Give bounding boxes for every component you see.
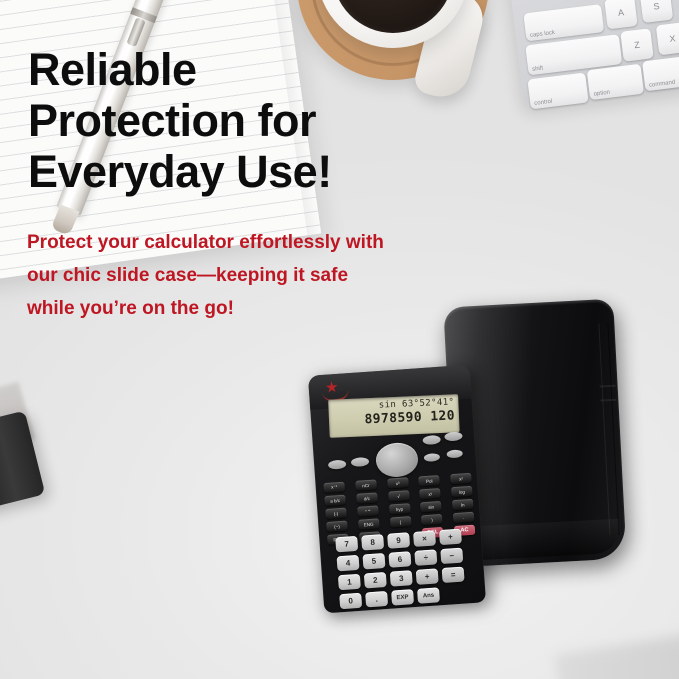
function-key[interactable]: ENG (358, 518, 380, 529)
equals-key[interactable]: = (442, 567, 465, 583)
product-lifestyle-scene: caps lock A S shift Z X control option c… (0, 0, 679, 679)
function-key[interactable]: x² (450, 473, 472, 484)
plus-key-top[interactable]: + (439, 529, 462, 545)
number-key-4[interactable]: 4 (337, 555, 360, 571)
key-a[interactable]: A (604, 0, 637, 29)
function-key[interactable]: Pol (418, 475, 440, 486)
function-key[interactable]: · (453, 512, 475, 523)
exp-key[interactable]: EXP (391, 589, 414, 605)
number-key-0[interactable]: 0 (339, 593, 362, 609)
key-control[interactable]: control (527, 73, 588, 110)
function-key[interactable]: nCr (355, 479, 377, 490)
directional-pad[interactable] (375, 442, 419, 479)
case-notch-mid (600, 399, 616, 402)
headline-line-2: Protection for (28, 95, 448, 146)
key-z[interactable]: Z (620, 28, 653, 61)
function-key[interactable]: ( (389, 516, 411, 527)
mac-keyboard: caps lock A S shift Z X control option c… (503, 0, 679, 108)
page-headline: Reliable Protection for Everyday Use! (28, 44, 448, 197)
alpha-key[interactable] (351, 457, 370, 467)
replay-left-key[interactable] (424, 453, 441, 462)
ans-key[interactable]: Ans (417, 587, 440, 603)
scientific-calculator: sin 63°52°41° 8978590 120 x⁻¹ nCr x³ Pol… (308, 365, 486, 614)
function-key[interactable]: (−) (326, 521, 348, 532)
key-option[interactable]: option (587, 64, 644, 100)
case-notch-top (600, 385, 616, 388)
key-x[interactable]: X (656, 22, 679, 55)
number-key-3[interactable]: 3 (390, 570, 413, 586)
left-edge-dark-object (0, 411, 45, 512)
mode-key[interactable] (422, 435, 441, 445)
number-key-9[interactable]: 9 (387, 532, 410, 548)
number-key-1[interactable]: 1 (338, 574, 361, 590)
plus-key[interactable]: + (416, 568, 439, 584)
key-command[interactable]: command (642, 53, 679, 91)
headline-line-1: Reliable (28, 44, 448, 95)
subcopy-line-2: our chic slide case—keeping it safe (27, 259, 497, 292)
function-key[interactable]: sin (420, 501, 442, 512)
function-key[interactable]: d/c (356, 492, 378, 503)
number-key-7[interactable]: 7 (335, 536, 358, 552)
function-key[interactable]: xʸ (419, 488, 441, 499)
function-key[interactable]: ) (421, 514, 443, 525)
divide-key[interactable]: ÷ (414, 549, 437, 565)
replay-right-key[interactable] (446, 449, 463, 458)
number-key-6[interactable]: 6 (388, 551, 411, 567)
number-key-8[interactable]: 8 (361, 534, 384, 550)
number-key-5[interactable]: 5 (362, 553, 385, 569)
number-key-2[interactable]: 2 (364, 572, 387, 588)
calculator-display: sin 63°52°41° 8978590 120 (328, 394, 460, 438)
multiply-key[interactable]: × (413, 530, 436, 546)
function-key[interactable]: x⁻¹ (323, 482, 345, 493)
numeric-keypad: 7 8 9 × + 4 5 6 ÷ − 1 2 3 + = 0 (335, 528, 480, 614)
function-key[interactable]: x³ (387, 477, 409, 488)
on-key[interactable] (444, 431, 463, 441)
function-key[interactable]: a b/c (324, 495, 346, 506)
subcopy-line-3: while you’re on the go! (27, 292, 497, 325)
function-key[interactable]: √ (388, 490, 410, 501)
shift-key[interactable] (328, 459, 347, 469)
function-key[interactable]: log (451, 486, 473, 497)
bottom-right-shadow (554, 632, 679, 679)
function-key[interactable]: ° '” (357, 505, 379, 516)
page-subcopy: Protect your calculator effortlessly wit… (27, 226, 497, 325)
decimal-point-key[interactable]: . (365, 591, 388, 607)
pen-clip (126, 17, 145, 47)
function-key[interactable]: (-) (325, 508, 347, 519)
headline-line-3: Everyday Use! (28, 146, 448, 197)
key-s[interactable]: S (640, 0, 673, 23)
function-key[interactable]: hyp (389, 503, 411, 514)
subcopy-line-1: Protect your calculator effortlessly wit… (27, 226, 497, 259)
minus-key[interactable]: − (440, 548, 463, 564)
key-caps-lock[interactable]: caps lock (523, 4, 604, 41)
coffee-liquid (332, 0, 454, 33)
function-key[interactable]: ln (452, 499, 474, 510)
